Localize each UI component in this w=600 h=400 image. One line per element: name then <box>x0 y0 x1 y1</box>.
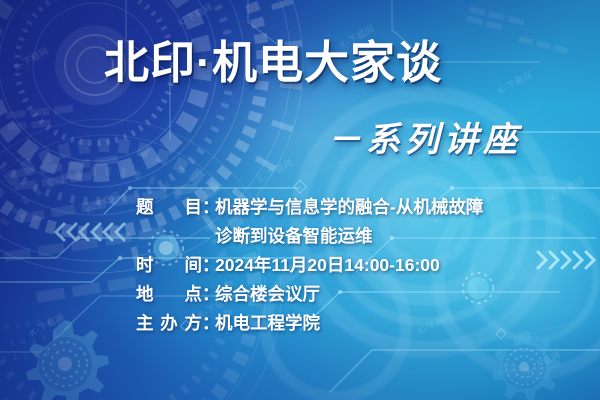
info-colon: ： <box>202 280 215 309</box>
info-row-topic-continuation: 诊断到设备智能运维 <box>136 222 483 251</box>
info-colon: ： <box>202 193 215 222</box>
info-label-venue: 地 点 <box>136 280 202 309</box>
poster-info-block: 题 目 ： 机器学与信息学的融合-从机械故障 诊断到设备智能运维 时 间 ： 2… <box>136 193 483 338</box>
info-value-time: 2024年11月20日14:00-16:00 <box>215 251 440 280</box>
poster-sub-title: －系列讲座 <box>327 112 522 161</box>
poster-content: 北印·机电大家谈 －系列讲座 题 目 ： 机器学与信息学的融合-从机械故障 诊断… <box>0 0 600 400</box>
poster-main-title: 北印·机电大家谈 <box>104 36 442 89</box>
info-value-topic-line2: 诊断到设备智能运维 <box>215 226 373 246</box>
info-label-time: 时 间 <box>136 251 202 280</box>
info-row-topic: 题 目 ： 机器学与信息学的融合-从机械故障 <box>136 193 483 222</box>
info-value-topic: 机器学与信息学的融合-从机械故障 <box>215 193 483 222</box>
info-colon: ： <box>202 309 215 338</box>
info-label-topic: 题 目 <box>136 193 202 222</box>
info-label-organizer: 主办方 <box>136 309 202 338</box>
info-row-venue: 地 点 ： 综合楼会议厅 <box>136 280 483 309</box>
info-value-organizer: 机电工程学院 <box>215 309 320 338</box>
lecture-poster: 0 <box>0 0 600 400</box>
info-row-organizer: 主办方 ： 机电工程学院 <box>136 309 483 338</box>
info-colon: ： <box>202 251 215 280</box>
info-value-venue: 综合楼会议厅 <box>215 280 320 309</box>
info-row-time: 时 间 ： 2024年11月20日14:00-16:00 <box>136 251 483 280</box>
